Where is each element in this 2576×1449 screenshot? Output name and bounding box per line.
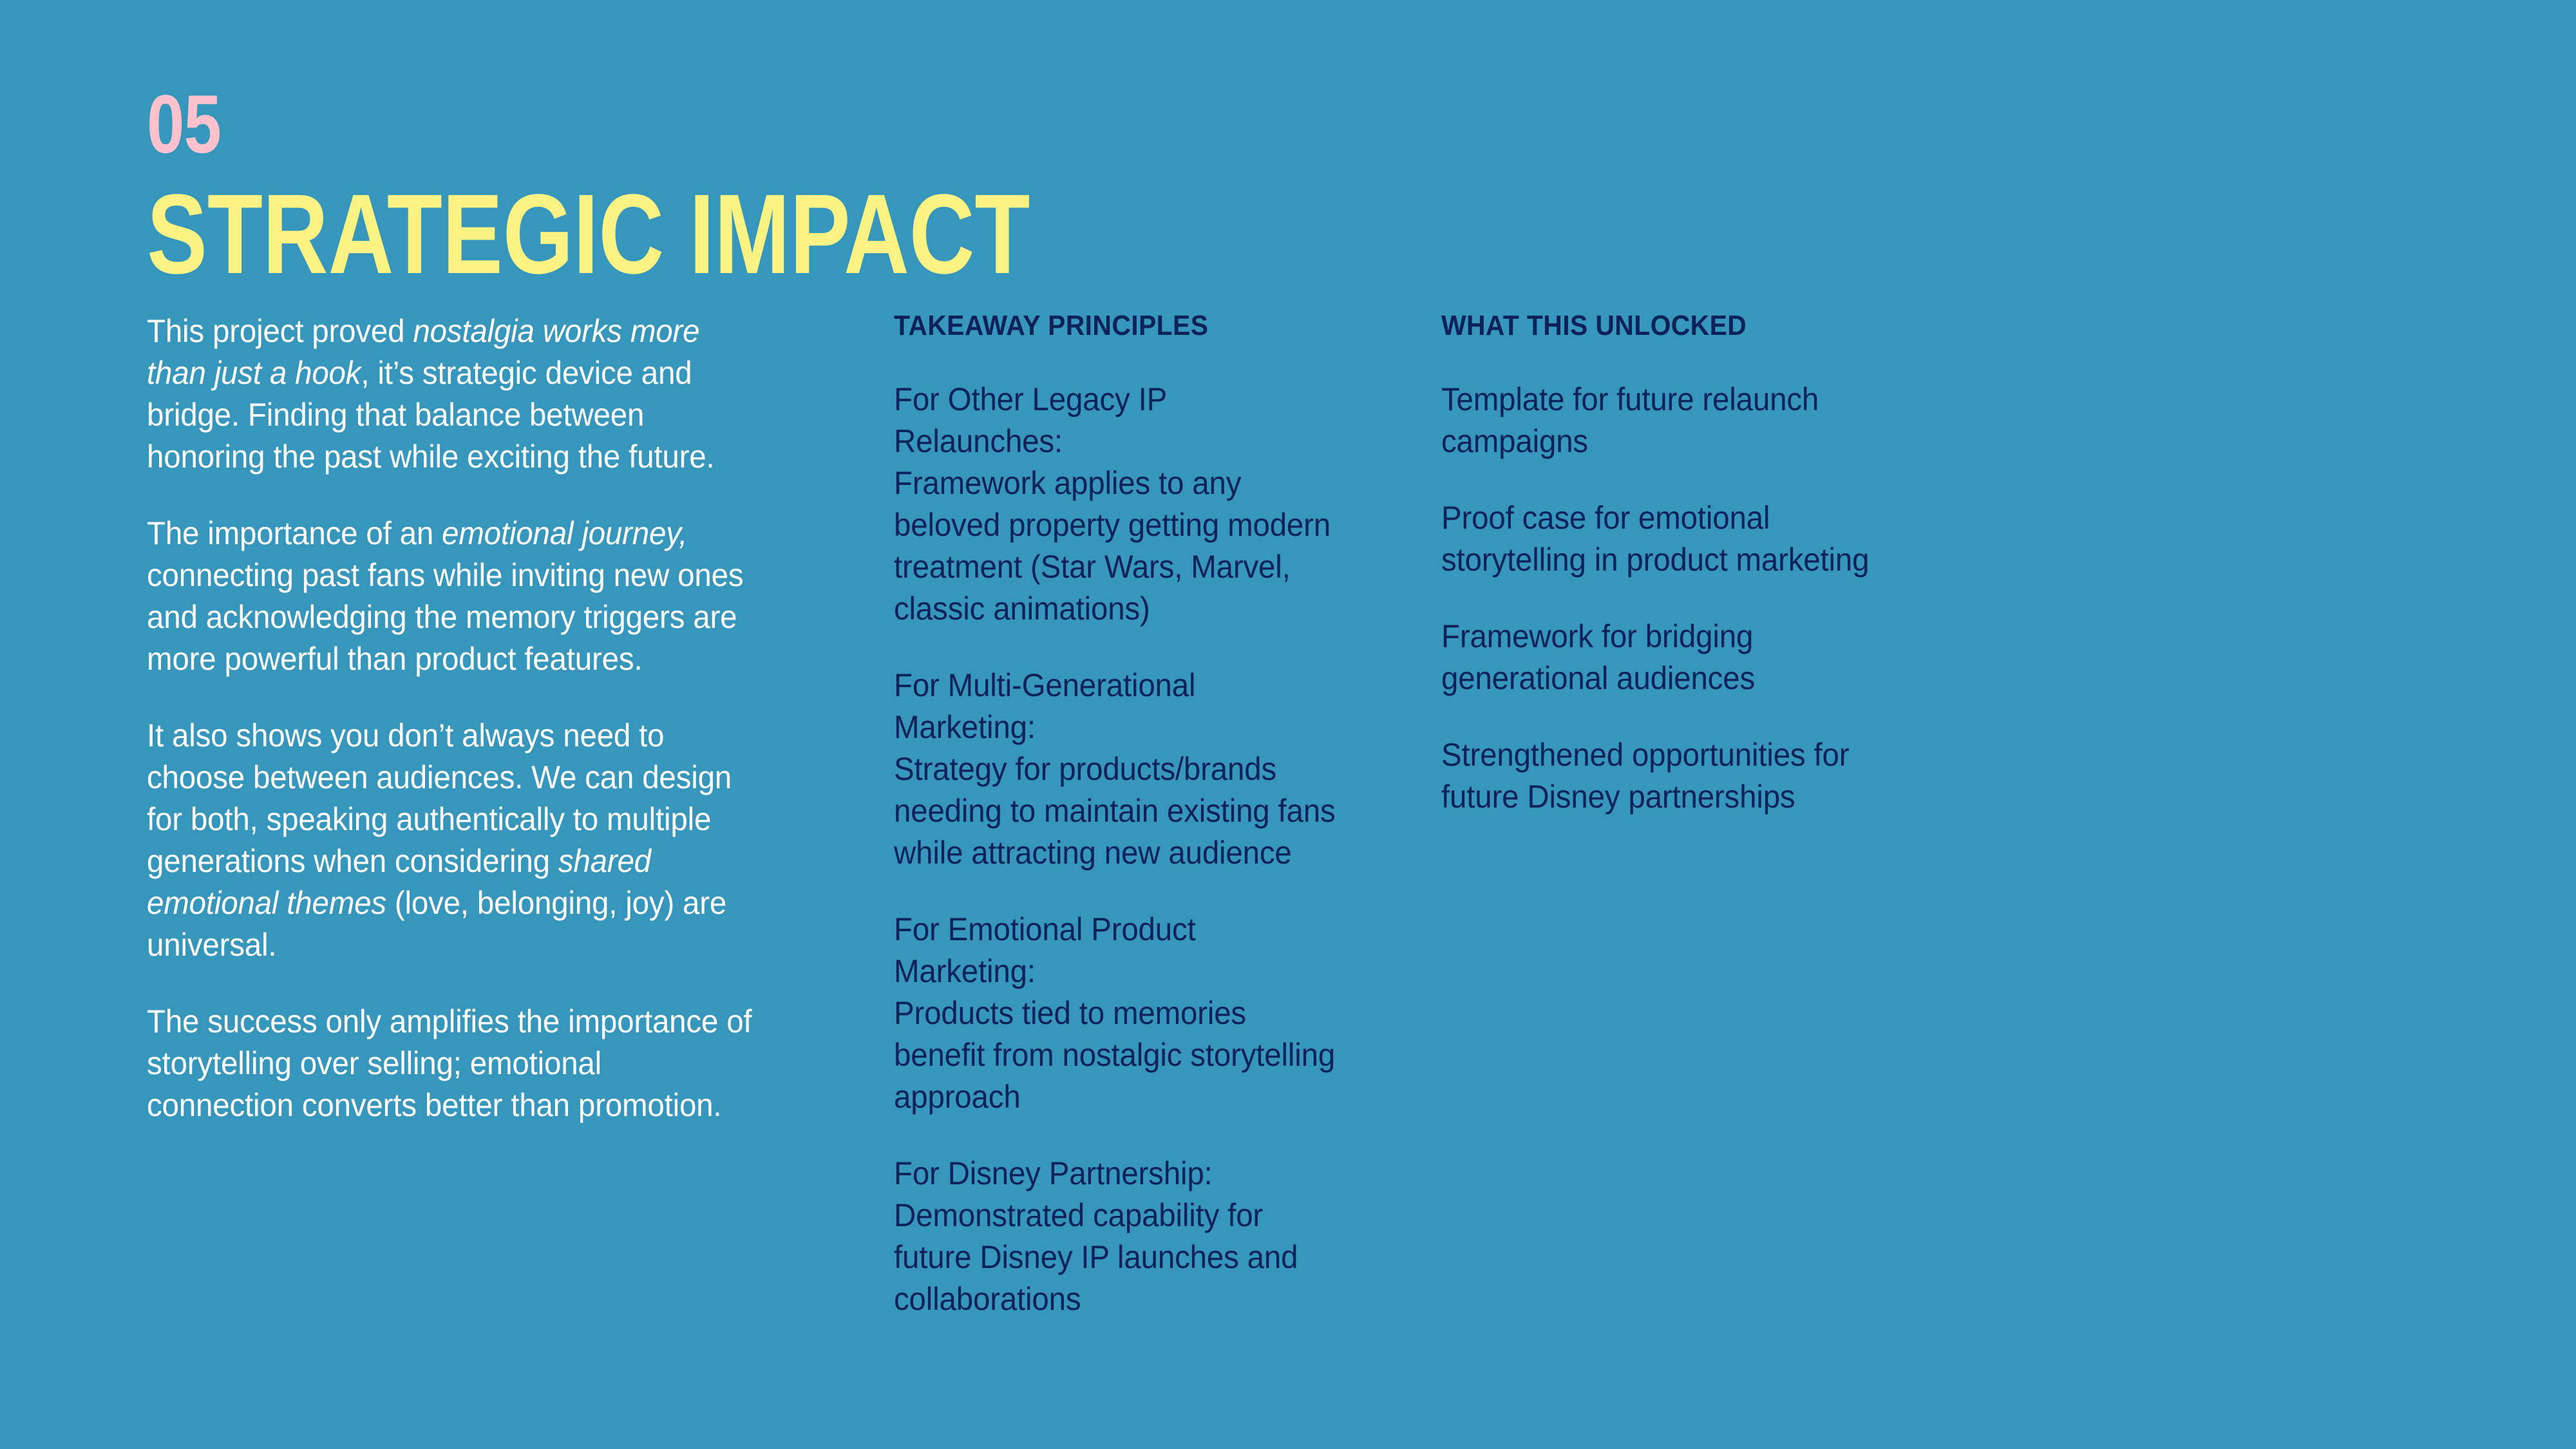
list-item: For Disney Partnership:Demonstrated capa… [894,1153,1341,1320]
list-item: Framework for bridging generational audi… [1441,616,1906,699]
content-columns: This project proved nostalgia works more… [0,310,2576,1405]
section-number: 05 [147,84,1052,166]
list-item: Proof case for emotional storytelling in… [1441,497,1906,581]
list-item: For Other Legacy IP Relaunches:Framework… [894,379,1341,630]
column-heading-takeaway-principles: TAKEAWAY PRINCIPLES [894,310,1331,341]
list-item: Strengthened opportunities for future Di… [1441,734,1906,818]
slide-root: 05 STRATEGIC IMPACT This project proved … [0,0,2576,1449]
column-what-this-unlocked: WHAT THIS UNLOCKED Template for future r… [1441,310,1931,818]
list-item: For Multi-Generational Marketing:Strateg… [894,665,1341,874]
paragraph: The importance of an emotional journey, … [147,513,753,680]
list-item: For Emotional Product Marketing:Products… [894,909,1341,1118]
list-item: Template for future relaunch campaigns [1441,379,1906,462]
column-heading-what-this-unlocked: WHAT THIS UNLOCKED [1441,310,1897,341]
paragraph: This project proved nostalgia works more… [147,310,753,478]
page-title: STRATEGIC IMPACT [147,178,1030,291]
paragraph: The success only amplifies the importanc… [147,1001,753,1126]
column-insights: This project proved nostalgia works more… [147,310,784,1126]
paragraph: It also shows you don’t always need to c… [147,715,753,966]
column-takeaway-principles: TAKEAWAY PRINCIPLES For Other Legacy IP … [894,310,1364,1320]
slide-header: 05 STRATEGIC IMPACT [147,84,1251,291]
